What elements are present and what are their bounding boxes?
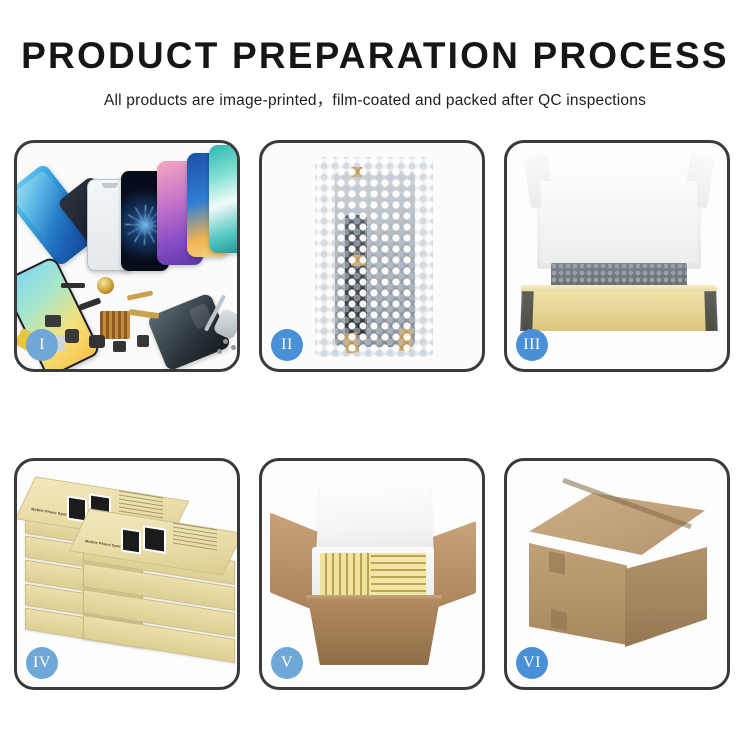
black-component-2 bbox=[65, 329, 79, 343]
step-panel-5: V bbox=[259, 458, 485, 690]
flex-cable-1 bbox=[127, 290, 153, 300]
step-badge-2: II bbox=[271, 329, 303, 361]
speaker-coil-part bbox=[97, 277, 114, 294]
phone-display-teal bbox=[209, 145, 237, 253]
step-badge-6: VI bbox=[516, 647, 548, 679]
page-subtitle: All products are image-printed，film-coat… bbox=[0, 88, 750, 110]
yellow-inner-box-body bbox=[522, 291, 716, 331]
page-title: PRODUCT PREPARATION PROCESS bbox=[0, 36, 750, 77]
chip-grid-part bbox=[100, 311, 130, 339]
bubble-wrap-bag bbox=[315, 157, 433, 357]
step-panel-1: I bbox=[14, 140, 240, 372]
carton-tape-2 bbox=[551, 609, 567, 630]
step-panel-4: Mobile Phone Spare Parts Mobile Phone Sp… bbox=[14, 458, 240, 690]
black-component-5 bbox=[137, 335, 149, 347]
box-art-swatch-b1 bbox=[121, 527, 141, 554]
screw-3 bbox=[217, 349, 222, 354]
step-panel-2: II bbox=[259, 140, 485, 372]
box-stack: Mobile Phone Spare Parts Mobile Phone Sp… bbox=[23, 475, 237, 671]
header: PRODUCT PREPARATION PROCESS All products… bbox=[0, 0, 750, 110]
screw-2 bbox=[231, 345, 236, 350]
step-panel-6: VI bbox=[504, 458, 730, 690]
carton-body-open bbox=[308, 599, 440, 665]
carton-tape-1 bbox=[549, 551, 565, 574]
step-badge-3: III bbox=[516, 329, 548, 361]
black-component-3 bbox=[89, 335, 105, 348]
black-component-4 bbox=[113, 341, 126, 352]
sealed-carton-side bbox=[625, 547, 707, 647]
black-component-1 bbox=[45, 315, 61, 327]
bubble-texture-highlight bbox=[315, 157, 433, 357]
step-badge-5: V bbox=[271, 647, 303, 679]
foam-box-lid bbox=[316, 485, 434, 555]
step-badge-1: I bbox=[26, 329, 58, 361]
step-badge-4: IV bbox=[26, 647, 58, 679]
screw-1 bbox=[223, 339, 228, 344]
foam-back-panel bbox=[541, 181, 697, 263]
sealed-carton-front bbox=[529, 543, 627, 645]
process-steps-grid: I II bbox=[14, 140, 736, 690]
yellow-boxes-inside bbox=[320, 553, 426, 597]
step-panel-3: III bbox=[504, 140, 730, 372]
antenna-bar-part bbox=[61, 283, 85, 288]
box-art-swatch-b2 bbox=[143, 525, 166, 554]
flex-cable-2 bbox=[129, 309, 160, 319]
flex-cable-3 bbox=[79, 297, 102, 310]
product-preparation-infographic: PRODUCT PREPARATION PROCESS All products… bbox=[0, 0, 750, 750]
